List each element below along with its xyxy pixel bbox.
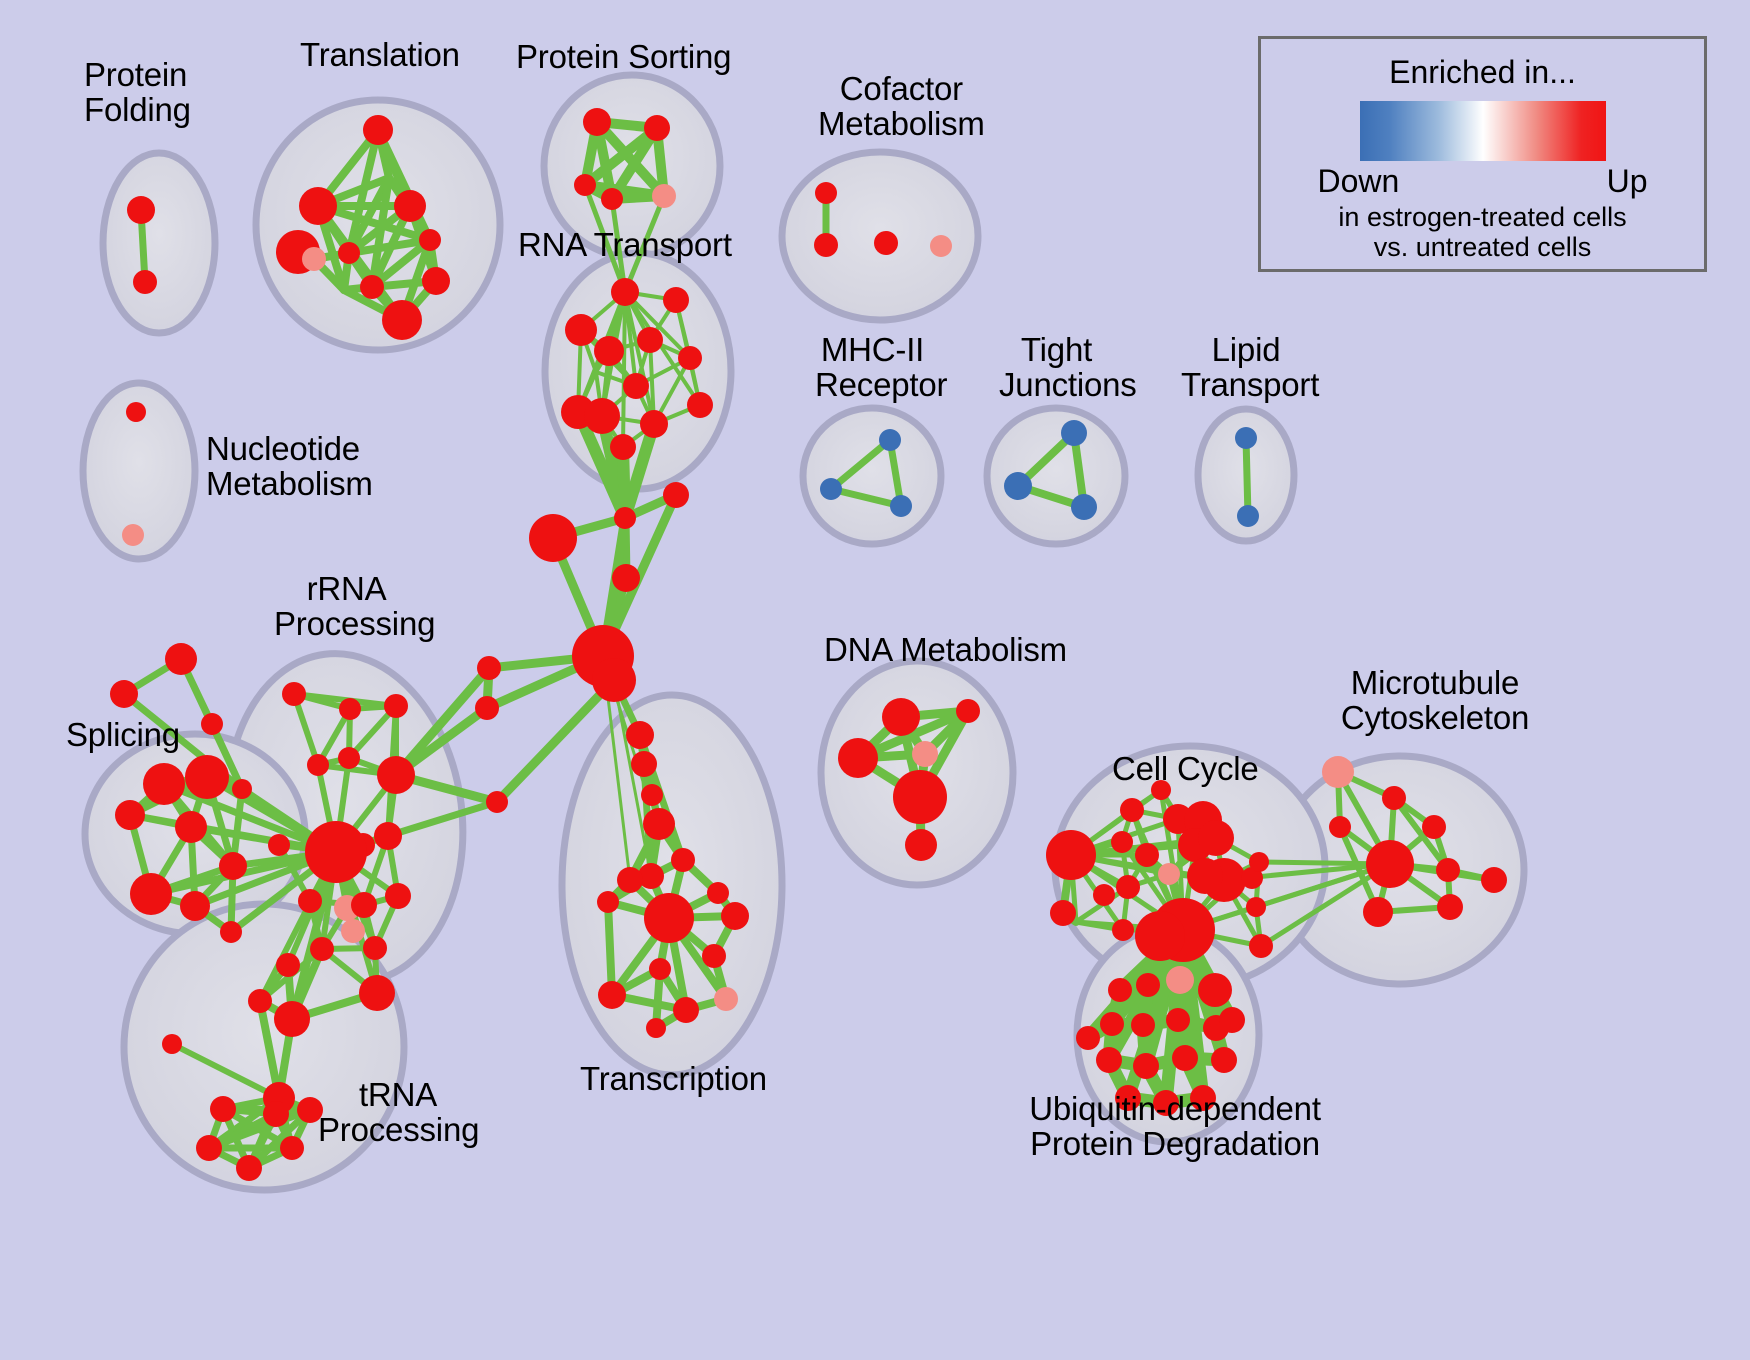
cluster-label-microtubule-cytoskeleton: Microtubule Cytoskeleton [1320,666,1550,736]
legend: Enriched in... Down Up in estrogen-treat… [1258,36,1707,272]
cluster-label-transcription: Transcription [580,1062,767,1097]
hull-mhcii [803,408,941,544]
cluster-label-protein-sorting: Protein Sorting [516,40,731,75]
legend-down-label: Down [1318,163,1400,200]
hull-protein-folding [103,153,215,333]
cluster-label-dna-metabolism: DNA Metabolism [824,633,1067,668]
cluster-label-nucleotide-metabolism: Nucleotide Metabolism [206,432,373,502]
cluster-label-tight-junctions: Tight Junctions [999,333,1114,403]
cluster-label-mhc-ii-receptor: MHC-II Receptor [815,333,930,403]
cluster-label-splicing: Splicing [66,718,180,753]
cluster-label-translation: Translation [300,38,460,73]
cluster-label-rrna-processing: rRNA Processing [274,572,419,642]
legend-color-gradient [1360,101,1606,161]
legend-title: Enriched in... [1389,54,1576,91]
legend-endpoints: Down Up [1318,163,1648,200]
hull-tight-junctions [987,408,1125,544]
cluster-label-rna-transport: RNA Transport [518,228,732,263]
legend-caption-line2: vs. untreated cells [1338,232,1626,262]
cluster-label-ubiquitin-degradation: Ubiquitin-dependent Protein Degradation [1000,1092,1350,1162]
legend-caption: in estrogen-treated cells vs. untreated … [1338,202,1626,262]
cluster-label-protein-folding: Protein Folding [84,58,191,128]
enrichment-network-figure: Protein Folding Translation Protein Sort… [0,0,1750,1360]
cluster-label-cofactor-metabolism: Cofactor Metabolism [818,72,985,142]
cluster-label-lipid-transport: Lipid Transport [1181,333,1311,403]
cluster-label-cell-cycle: Cell Cycle [1112,752,1259,787]
legend-caption-line1: in estrogen-treated cells [1338,202,1626,232]
legend-up-label: Up [1607,163,1648,200]
cluster-label-trna-processing: tRNA Processing [318,1078,478,1148]
